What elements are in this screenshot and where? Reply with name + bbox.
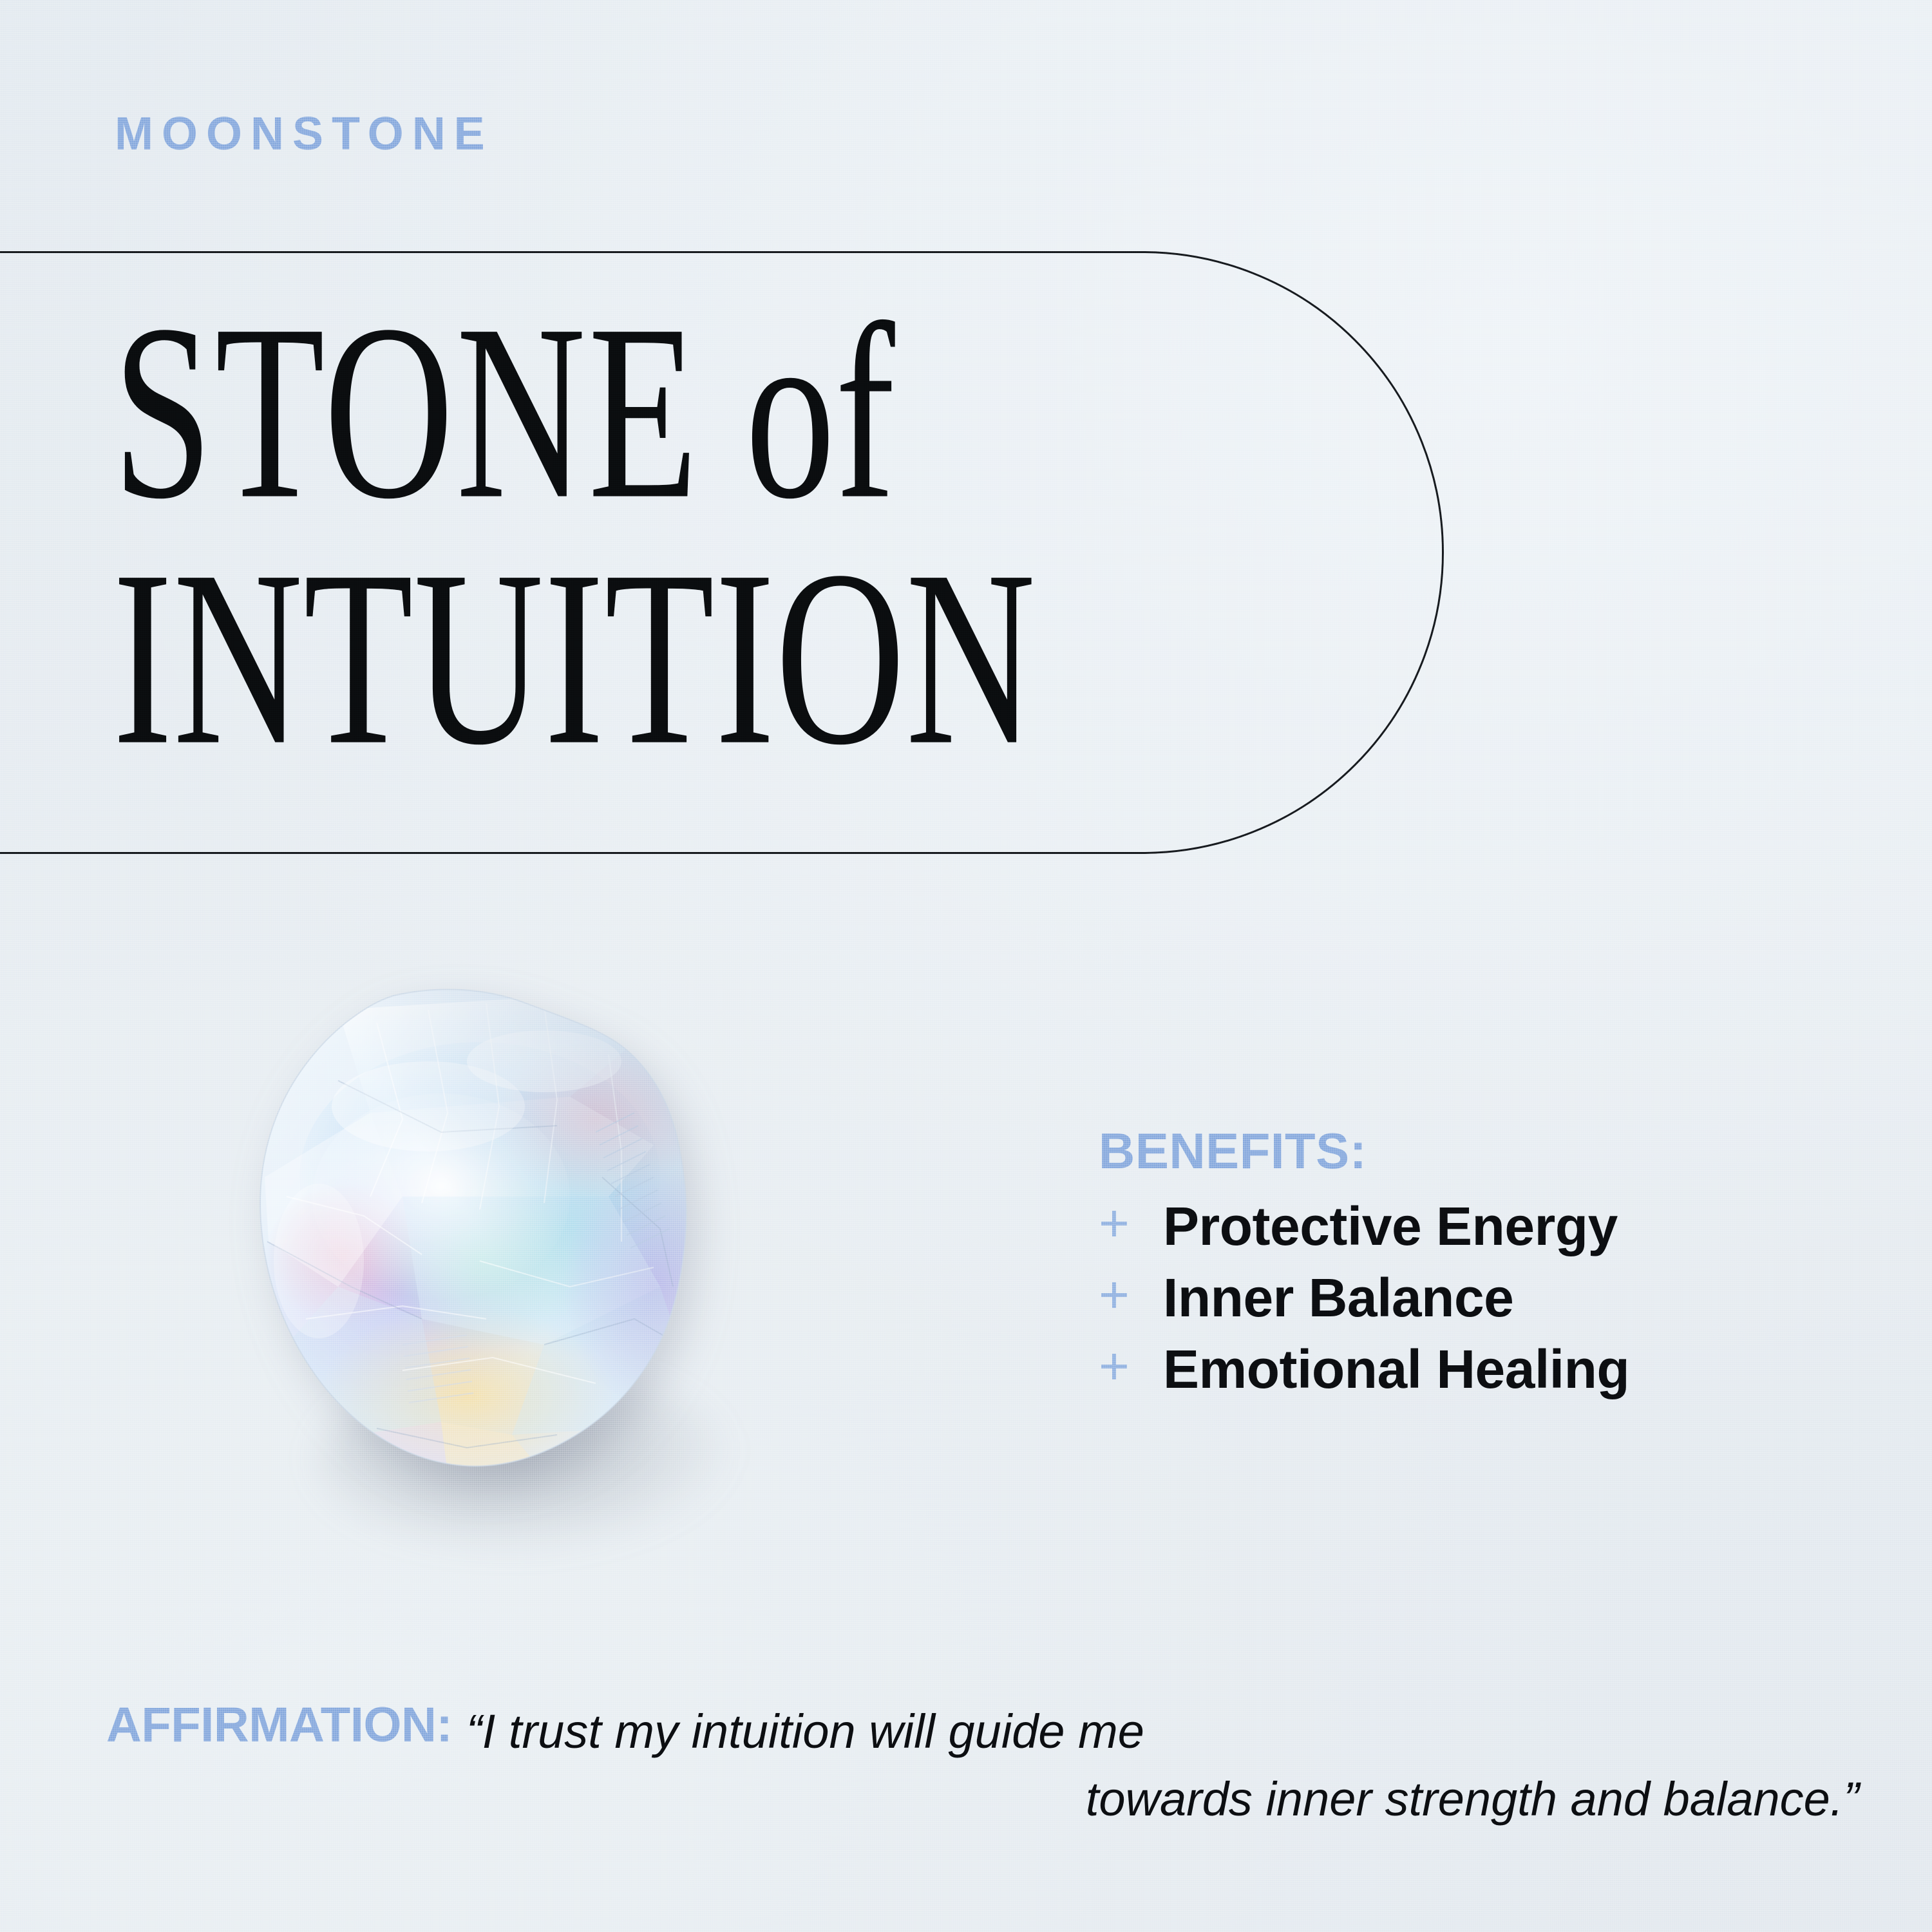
crystal-info-card: MOONSTONE STONE of INTUITION [0,0,1932,1932]
affirmation-label: AFFIRMATION: [106,1698,452,1752]
affirmation-section: AFFIRMATION: “I trust my intuition will … [106,1698,1871,1833]
affirmation-quote-line-2: towards inner strength and balance.” [106,1765,1871,1833]
hero-image [209,984,744,1538]
plus-icon: + [1099,1269,1163,1321]
benefits-heading: BENEFITS: [1099,1126,1859,1176]
list-item: + Protective Energy [1099,1198,1859,1255]
list-item: + Inner Balance [1099,1269,1859,1327]
title-word-stone: STONE [113,272,701,551]
plus-icon: + [1099,1340,1163,1393]
stone-name-eyebrow: MOONSTONE [115,111,493,157]
title-line-1: STONE of [113,291,1311,533]
benefit-label: Emotional Healing [1163,1341,1629,1398]
moonstone-crystal-icon [209,984,744,1538]
page-title: STONE of INTUITION [113,291,1401,723]
benefits-section: BENEFITS: + Protective Energy + Inner Ba… [1099,1126,1859,1398]
benefit-label: Protective Energy [1163,1198,1618,1255]
plus-icon: + [1099,1197,1163,1250]
title-line-2: INTUITION [113,537,1311,779]
title-word-of: of [745,272,895,551]
list-item: + Emotional Healing [1099,1341,1859,1398]
benefit-label: Inner Balance [1163,1269,1513,1327]
